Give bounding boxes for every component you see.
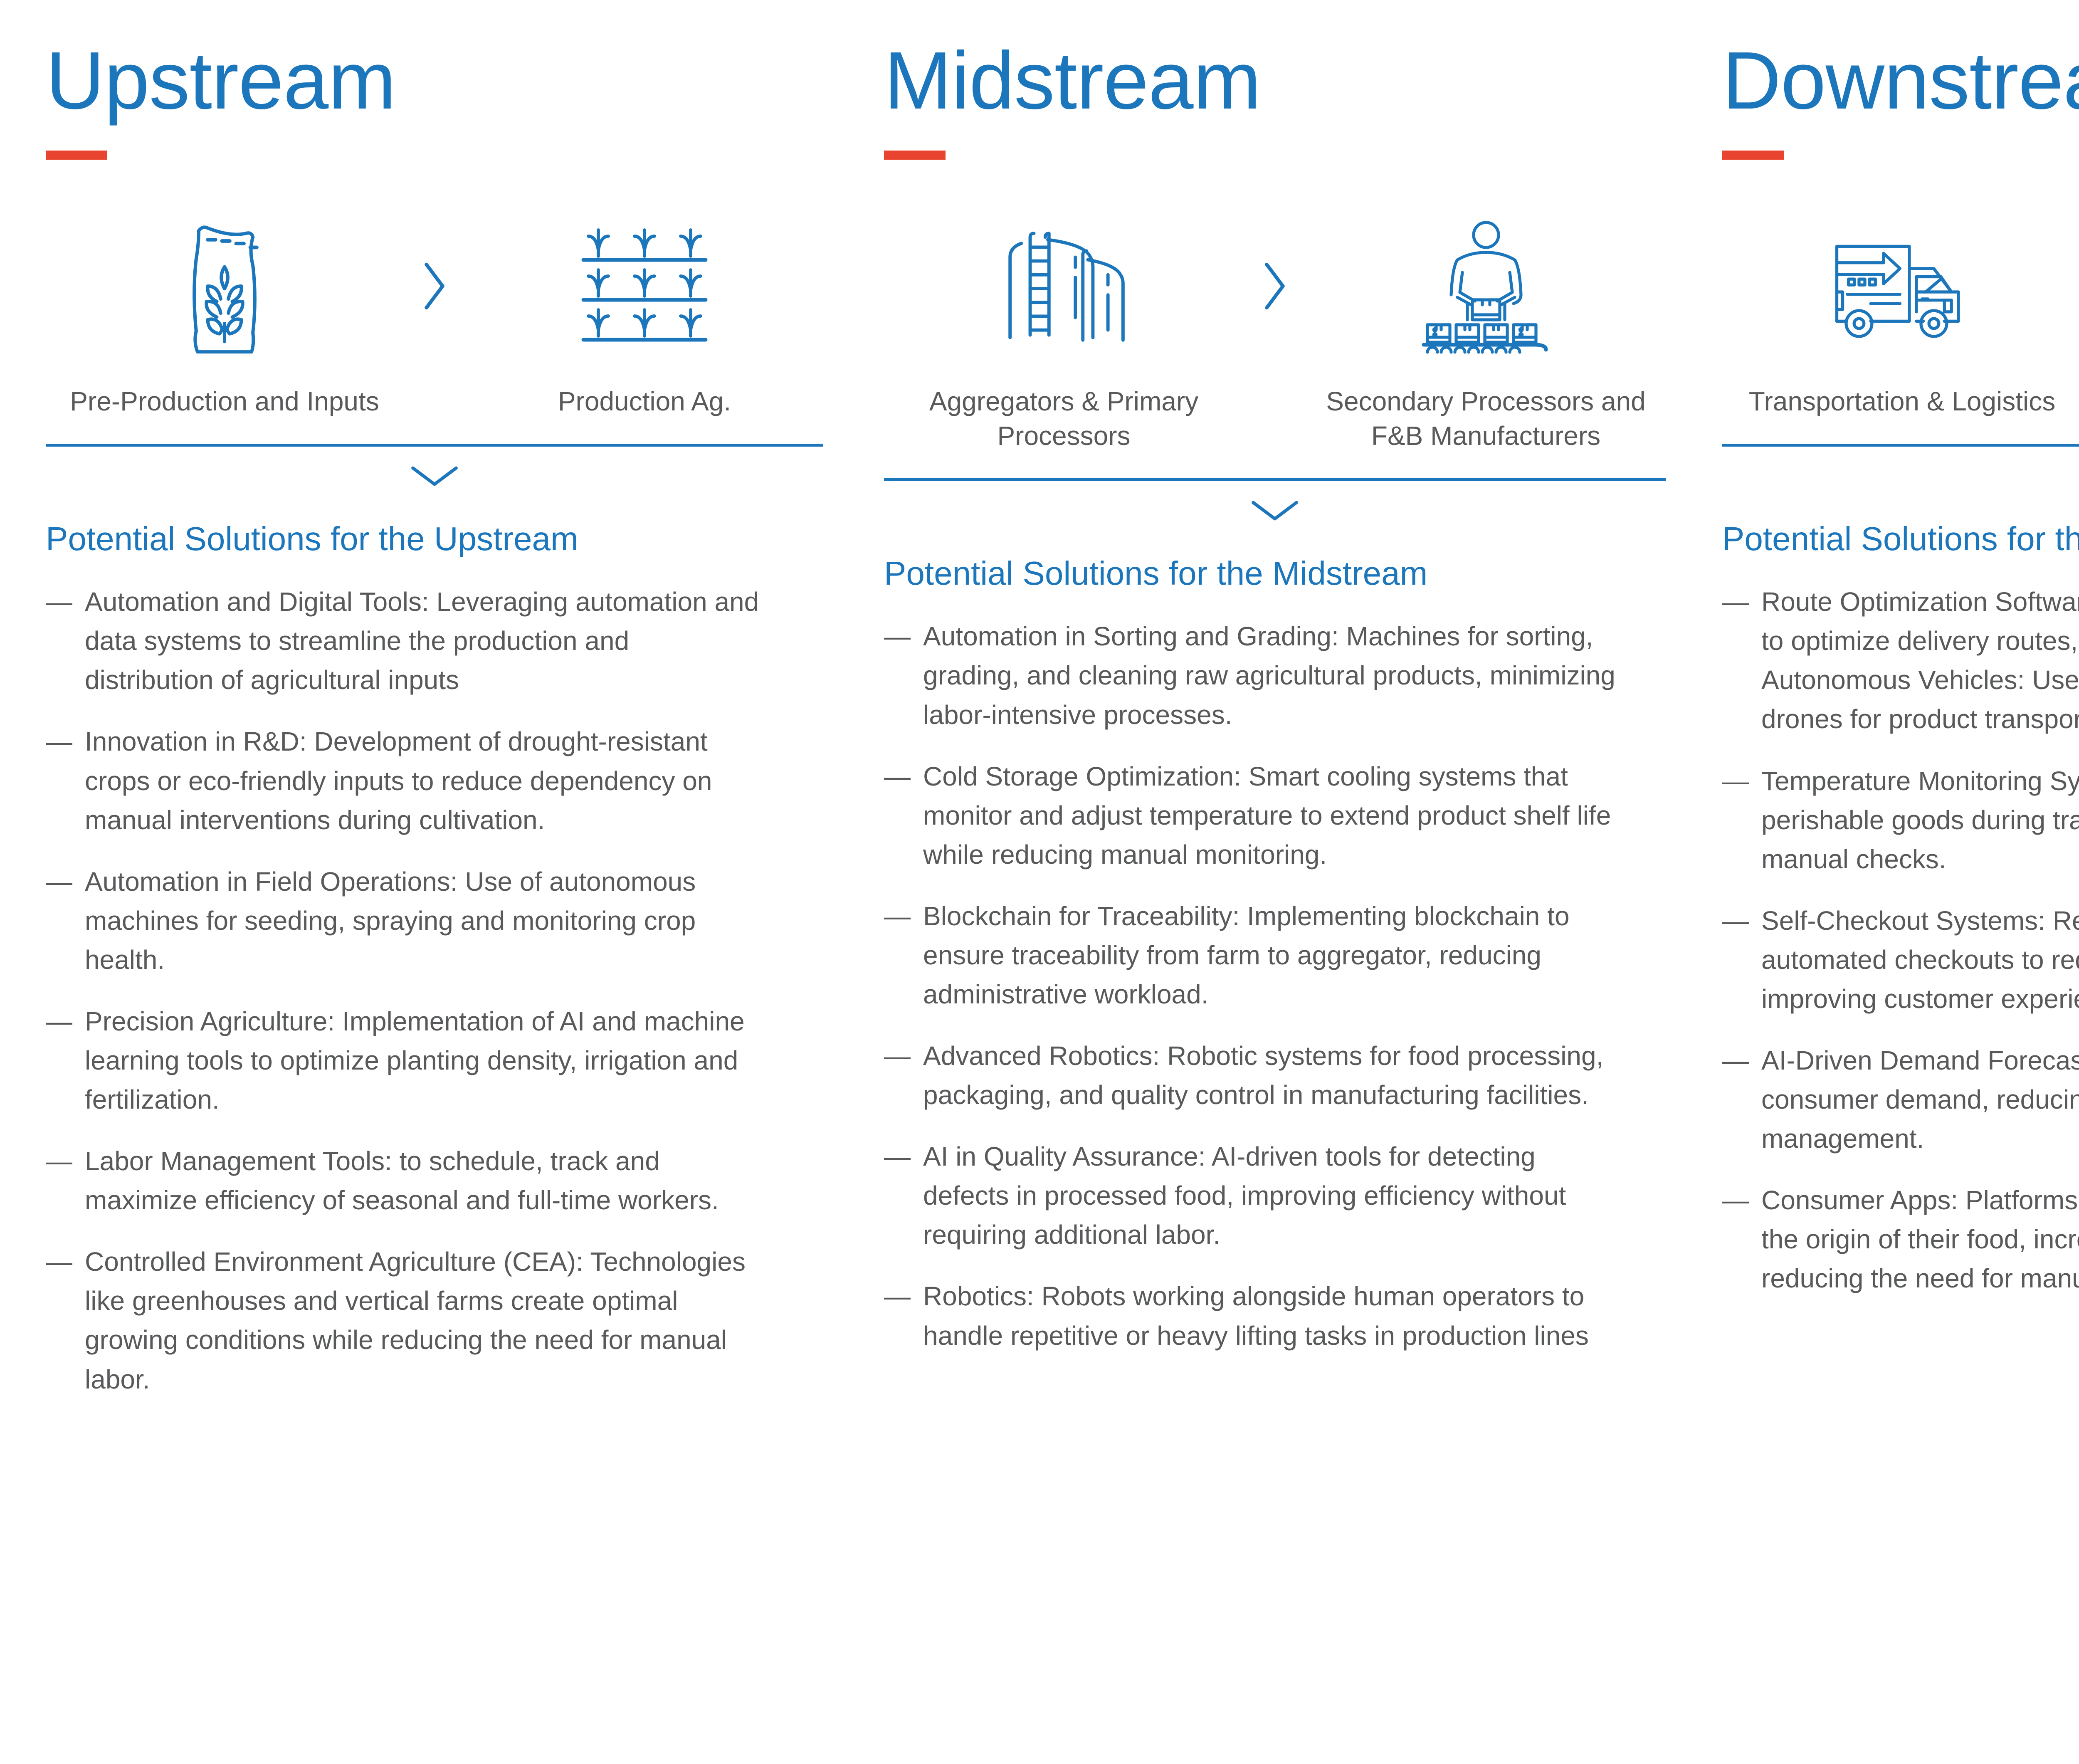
list-item: — Consumer Apps: Platforms that allow co… xyxy=(1722,1181,2079,1298)
chevron-down-icon xyxy=(1722,462,2079,491)
list-item: — Innovation in R&D: Development of drou… xyxy=(46,722,765,839)
stage-aggregators: Aggregators & Primary Processors xyxy=(884,203,1244,453)
bullet-dash: — xyxy=(1722,1181,1761,1220)
stage-label: Secondary Processors and F&B Manufacture… xyxy=(1320,384,1652,453)
chevron-down-icon xyxy=(884,496,1666,525)
bullet-text: Automation in Field Operations: Use of a… xyxy=(85,862,765,979)
solutions-list-upstream: — Automation and Digital Tools: Leveragi… xyxy=(46,582,765,1398)
bullet-text: Self-Checkout Systems: Retail outlets le… xyxy=(1761,901,2079,1018)
bullet-dash: — xyxy=(884,617,923,656)
column-midstream: Midstream xyxy=(884,40,1722,1764)
list-item: — AI in Quality Assurance: AI-driven too… xyxy=(884,1137,1624,1254)
list-item: — Advanced Robotics: Robotic systems for… xyxy=(884,1036,1624,1114)
crop-rows-icon xyxy=(576,203,713,369)
solutions-title-midstream: Potential Solutions for the Midstream xyxy=(884,554,1672,593)
list-item: — Controlled Environment Agriculture (CE… xyxy=(46,1242,765,1398)
list-item: — Blockchain for Traceability: Implement… xyxy=(884,897,1624,1014)
value-chain-infographic: Upstream xyxy=(0,0,2079,1764)
bullet-dash: — xyxy=(46,1002,85,1041)
bullet-text: Automation in Sorting and Grading: Machi… xyxy=(923,617,1624,734)
list-item: — AI-Driven Demand Forecasting: Systems … xyxy=(1722,1041,2079,1158)
bullet-dash: — xyxy=(884,1137,923,1176)
bullet-dash: — xyxy=(46,722,85,761)
solutions-title-upstream: Potential Solutions for the Upstream xyxy=(46,520,834,558)
column-downstream: Downstream xyxy=(1722,40,2079,1764)
bullet-dash: — xyxy=(46,582,85,621)
factory-worker-icon xyxy=(1420,203,1553,369)
bullet-text: Route Optimization Software: AI-driven l… xyxy=(1761,582,2079,739)
stage-production-ag: Production Ag. xyxy=(466,203,823,419)
bullet-dash: — xyxy=(1722,582,1761,621)
bullet-text: AI in Quality Assurance: AI-driven tools… xyxy=(923,1137,1624,1254)
stage-row-midstream: Aggregators & Primary Processors xyxy=(884,203,1666,453)
bullet-text: Innovation in R&D: Development of drough… xyxy=(85,722,765,839)
bullet-text: Cold Storage Optimization: Smart cooling… xyxy=(923,757,1624,874)
list-item: — Automation and Digital Tools: Leveragi… xyxy=(46,582,765,699)
chevron-right-icon xyxy=(403,203,466,369)
stage-secondary-processors: Secondary Processors and F&B Manufacture… xyxy=(1306,203,1666,453)
bullet-text: Temperature Monitoring Systems: Real-tim… xyxy=(1761,761,2079,879)
stage-label: Production Ag. xyxy=(558,384,731,419)
bullet-dash: — xyxy=(1722,1041,1761,1080)
silo-icon xyxy=(998,203,1131,369)
seed-bag-icon xyxy=(160,203,289,369)
section-divider xyxy=(884,478,1666,481)
solutions-title-downstream: Potential Solutions for the Upstream xyxy=(1722,520,2079,558)
stage-row-downstream: Transportation & Logistics xyxy=(1722,203,2079,419)
bullet-text: Blockchain for Traceability: Implementin… xyxy=(923,897,1624,1014)
bullet-text: Advanced Robotics: Robotic systems for f… xyxy=(923,1036,1624,1114)
section-divider xyxy=(46,444,823,447)
section-divider xyxy=(1722,444,2079,447)
list-item: — Route Optimization Software: AI-driven… xyxy=(1722,582,2079,739)
column-upstream: Upstream xyxy=(46,40,884,1764)
stage-label: Transportation & Logistics xyxy=(1749,384,2056,419)
accent-bar-midstream xyxy=(884,151,946,160)
bullet-text: Labor Management Tools: to schedule, tra… xyxy=(85,1141,765,1220)
list-item: — Cold Storage Optimization: Smart cooli… xyxy=(884,757,1624,874)
page-title-midstream: Midstream xyxy=(884,40,1672,121)
bullet-dash: — xyxy=(46,1141,85,1181)
bullet-dash: — xyxy=(884,1277,923,1316)
delivery-truck-icon xyxy=(1832,203,1973,369)
bullet-dash: — xyxy=(46,862,85,901)
bullet-text: Controlled Environment Agriculture (CEA)… xyxy=(85,1242,765,1398)
page-title-downstream: Downstream xyxy=(1722,40,2079,121)
list-item: — Temperature Monitoring Systems: Real-t… xyxy=(1722,761,2079,879)
accent-bar-upstream xyxy=(46,151,107,160)
stage-label: Aggregators & Primary Processors xyxy=(898,384,1230,453)
bullet-text: Precision Agriculture: Implementation of… xyxy=(85,1002,765,1119)
solutions-list-midstream: — Automation in Sorting and Grading: Mac… xyxy=(884,617,1624,1355)
bullet-text: Robotics: Robots working alongside human… xyxy=(923,1277,1624,1355)
bullet-text: Consumer Apps: Platforms that allow cons… xyxy=(1761,1181,2079,1298)
stage-pre-production: Pre-Production and Inputs xyxy=(46,203,403,419)
bullet-dash: — xyxy=(46,1242,85,1281)
stage-label: Pre-Production and Inputs xyxy=(70,384,379,419)
list-item: — Automation in Sorting and Grading: Mac… xyxy=(884,617,1624,734)
bullet-text: Automation and Digital Tools: Leveraging… xyxy=(85,582,765,699)
bullet-dash: — xyxy=(884,897,923,936)
list-item: — Precision Agriculture: Implementation … xyxy=(46,1002,765,1119)
list-item: — Robotics: Robots working alongside hum… xyxy=(884,1277,1624,1355)
chevron-right-icon xyxy=(1244,203,1306,369)
bullet-dash: — xyxy=(1722,761,1761,800)
solutions-list-downstream: — Route Optimization Software: AI-driven… xyxy=(1722,582,2079,1298)
list-item: — Self-Checkout Systems: Retail outlets … xyxy=(1722,901,2079,1018)
list-item: — Automation in Field Operations: Use of… xyxy=(46,862,765,979)
bullet-dash: — xyxy=(884,1036,923,1075)
bullet-dash: — xyxy=(884,757,923,796)
stage-row-upstream: Pre-Production and Inputs xyxy=(46,203,823,419)
bullet-dash: — xyxy=(1722,901,1761,940)
list-item: — Labor Management Tools: to schedule, t… xyxy=(46,1141,765,1220)
page-title-upstream: Upstream xyxy=(46,40,834,121)
bullet-text: AI-Driven Demand Forecasting: Systems to… xyxy=(1761,1041,2079,1158)
stage-transportation: Transportation & Logistics xyxy=(1722,203,2079,419)
accent-bar-downstream xyxy=(1722,151,1784,160)
chevron-down-icon xyxy=(46,462,823,491)
